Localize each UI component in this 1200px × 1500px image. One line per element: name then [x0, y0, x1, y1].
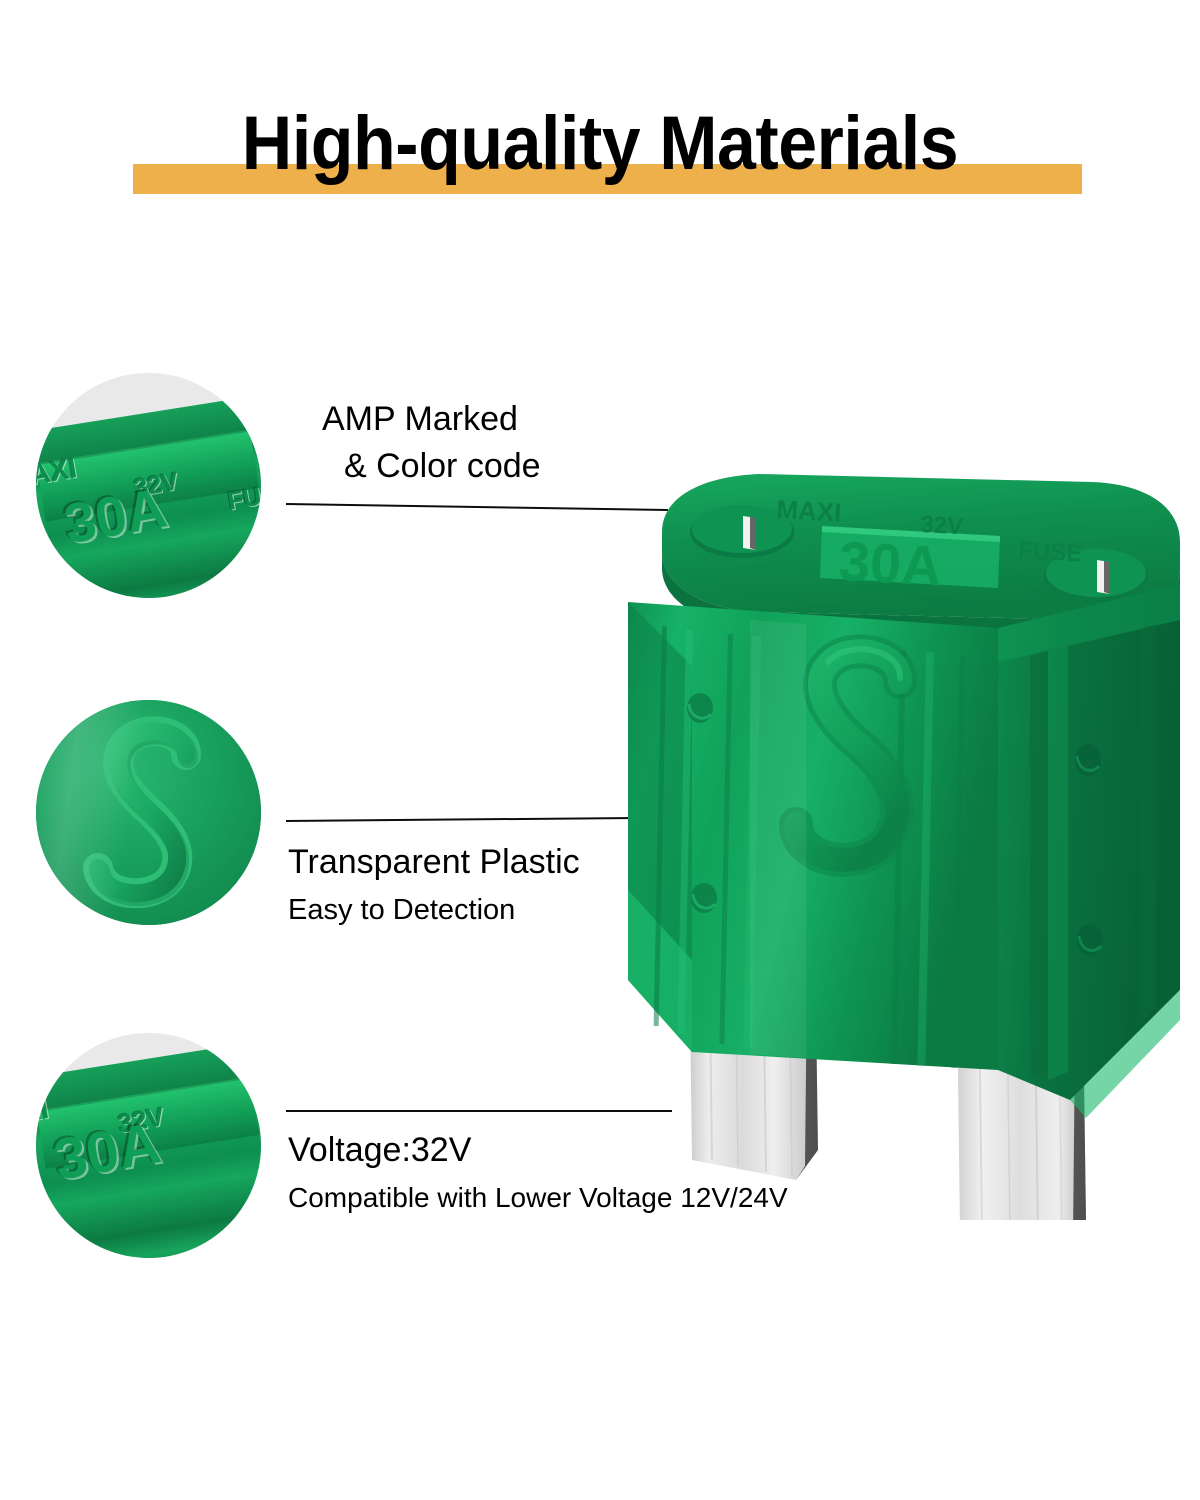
marking-fuse: FUSE — [1018, 537, 1083, 568]
circle-s-element — [36, 700, 261, 925]
callout-plastic-line2: Easy to Detection — [288, 884, 580, 932]
slot-blade-right-edge — [1104, 561, 1110, 594]
callout-amp-line1: AMP Marked — [322, 396, 541, 443]
page-title-block: High-quality Materials — [0, 96, 1200, 216]
product-image-maxi-fuse: MAXI 32V 30A FUSE — [600, 460, 1200, 1220]
embossed-fuse-partial-1: FU — [226, 482, 261, 516]
callout-amp-line2: & Color code — [322, 443, 541, 490]
slot-blade-left-edge — [750, 517, 756, 550]
marking-amperage: 30A — [837, 529, 943, 598]
callout-plastic-line1: Transparent Plastic — [288, 840, 580, 884]
callout-text-plastic: Transparent Plastic Easy to Detection — [288, 840, 580, 932]
fuse-illustration: MAXI 32V 30A FUSE — [600, 460, 1200, 1220]
s-element-macro — [36, 700, 261, 925]
embossed-label-macro-1: AXI 32V 30A FU — [36, 373, 261, 598]
callout-text-amp: AMP Marked & Color code — [322, 396, 541, 490]
marking-maxi: MAXI — [776, 494, 843, 528]
circle-amp-label: AXI 32V 30A FU — [36, 373, 261, 598]
embossed-label-macro-3: XI 32V 30A — [36, 1033, 261, 1258]
circle-voltage-label: XI 32V 30A — [36, 1033, 261, 1258]
fuse-body — [628, 584, 1180, 1118]
body-gloss — [750, 620, 806, 1058]
infographic-canvas: High-quality Materials AXI 32V 30A FU AM… — [0, 0, 1200, 1500]
page-title: High-quality Materials — [48, 96, 1152, 192]
